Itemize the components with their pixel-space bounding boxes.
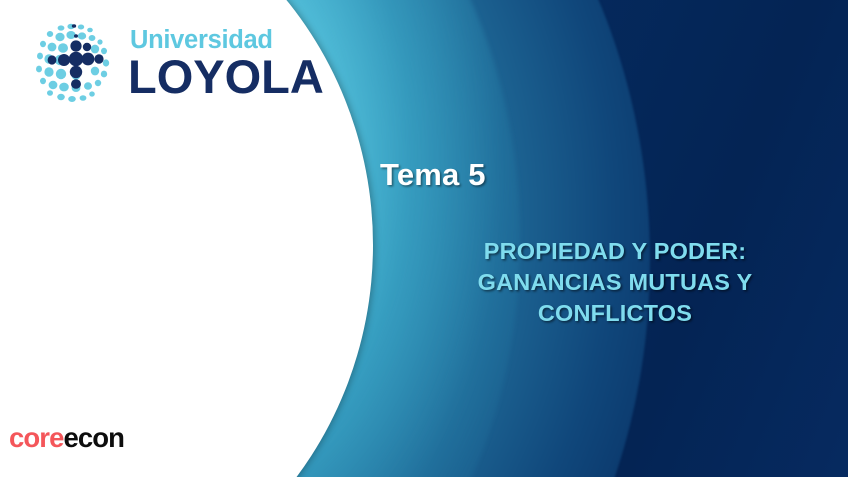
coreecon-core-text: core [9, 422, 64, 453]
coreecon-logo: coreecon [9, 424, 124, 452]
loyola-wordmark: Universidad LOYOLA [128, 28, 324, 98]
slide-title: Tema 5 [380, 157, 486, 193]
coreecon-econ-text: econ [64, 422, 125, 453]
presentation-slide: Universidad LOYOLA Tema 5 PROPIEDAD Y PO… [0, 0, 848, 477]
slide-subtitle-line-1: PROPIEDAD Y PODER: [420, 236, 810, 267]
slide-subtitle: PROPIEDAD Y PODER: GANANCIAS MUTUAS Y CO… [420, 236, 810, 329]
slide-subtitle-line-2: GANANCIAS MUTUAS Y [420, 267, 810, 298]
universidad-loyola-logo: Universidad LOYOLA [32, 22, 332, 114]
dotted-sphere-icon [32, 22, 118, 108]
slide-subtitle-line-3: CONFLICTOS [420, 298, 810, 329]
loyola-loyola-text: LOYOLA [128, 55, 324, 98]
